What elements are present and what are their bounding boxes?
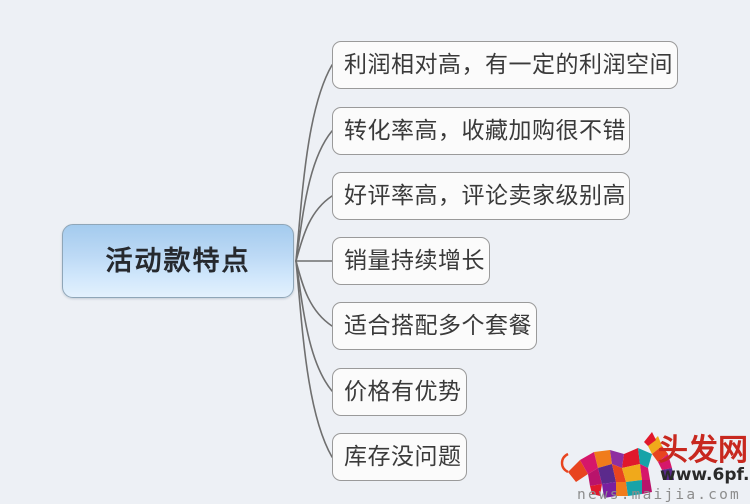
branch-node-2-label: 转化率高，收藏加购很不错 [344,120,626,143]
root-node[interactable]: 活动款特点 [62,224,294,298]
root-node-label: 活动款特点 [106,248,251,275]
branch-node-4-label: 销量持续增长 [344,250,485,273]
branch-node-6-label: 价格有优势 [344,381,462,404]
connector-6 [296,261,332,391]
connector-7 [296,261,332,457]
branch-node-7-label: 库存没问题 [344,446,462,469]
branch-node-5[interactable]: 适合搭配多个套餐 [332,302,537,350]
watermark-brand-url: www.6pf.cn [660,465,750,485]
branch-node-3-label: 好评率高，评论卖家级别高 [344,185,626,208]
watermark-source-url: news.maijia.com [568,487,750,503]
branch-node-1[interactable]: 利润相对高，有一定的利润空间 [332,41,678,89]
svg-text:头发网: 头发网 [658,433,748,468]
branch-node-5-label: 适合搭配多个套餐 [344,315,532,338]
branch-node-4[interactable]: 销量持续增长 [332,237,490,285]
branch-node-1-label: 利润相对高，有一定的利润空间 [344,54,673,77]
svg-text:www.6pf.cn: www.6pf.cn [660,465,750,485]
branch-node-2[interactable]: 转化率高，收藏加购很不错 [332,107,630,155]
connector-5 [296,261,332,326]
branch-node-3[interactable]: 好评率高，评论卖家级别高 [332,172,630,220]
watermark-brand-cn: 头发网 [658,433,748,468]
mindmap-canvas: 活动款特点 利润相对高，有一定的利润空间 转化率高，收藏加购很不错 好评率高，评… [0,0,750,504]
connector-2 [296,131,332,261]
connector-3 [296,196,332,261]
connector-1 [296,65,332,261]
branch-node-7[interactable]: 库存没问题 [332,433,467,481]
branch-node-6[interactable]: 价格有优势 [332,368,467,416]
